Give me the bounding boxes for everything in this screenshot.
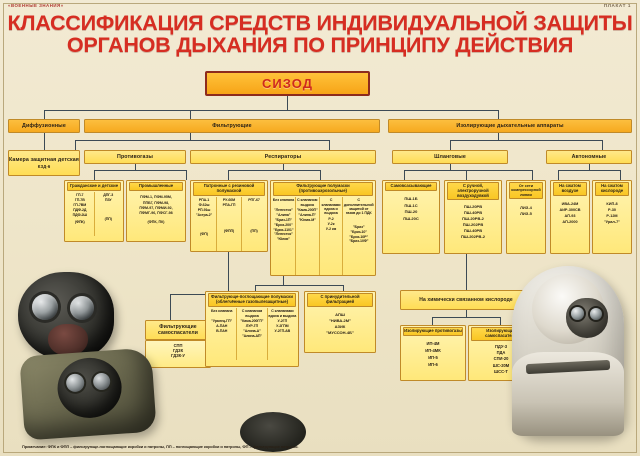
suit-face-mask [566, 298, 608, 338]
node-autonomous: Автономные [546, 150, 632, 164]
connector [75, 140, 76, 150]
halfmask-caption: Фильтрующие полумаски (противоаэрозольны… [273, 182, 373, 196]
model: В-ПАН [208, 329, 236, 334]
halfmask-col-no-valve: Без клапана "Лепесток" "Алина" "Бриз-1П"… [272, 197, 296, 275]
connector [94, 170, 95, 180]
title-line-2: ОРГАНОВ ДЫХАНИЯ ПО ПРИНЦИПУ ДЕЙСТВИЯ [0, 35, 640, 57]
oxygen-caption: На сжатом кислороде [595, 182, 629, 196]
connector [466, 170, 467, 180]
absorbing-col-no-valve: Без клапана "Уралец-ГП" А-ПАН В-ПАН [207, 308, 237, 360]
halfmask-col-both-valves: С клапанами вдоха и выдоха Р-2 У-2к У-2 … [320, 197, 344, 275]
col-head: Без клапана [208, 309, 236, 318]
connector [558, 170, 620, 171]
civil-gasmasks-caption: Гражданские и детские [67, 182, 121, 191]
photo-protective-suit [512, 266, 624, 436]
cartridge-col-fpp: РУ-60М РПА-ГП (ФПП) [217, 197, 242, 251]
col-head: С клапанами вдоха и выдоха [268, 309, 296, 318]
group-civil-gasmasks: Гражданские и детские ГП-7 ГП-7В ГП-7ВМ … [64, 180, 124, 242]
halfmask-col-exhale-valve: С клапаном выдоха "Кама-200П" "Алина-П" … [296, 197, 320, 275]
model: ПШ-202РВ-2 [446, 234, 500, 240]
civil-col-fpk: ГП-7 ГП-7В ГП-7ВМ ПДФ-2Д ПДФ-2Ш (ФПК) [66, 192, 95, 236]
suit-hood [532, 274, 604, 344]
model: ИП-5 [402, 355, 464, 362]
model: "Бриз-10Ф" [344, 239, 374, 244]
model: ИП-4МК [402, 348, 464, 355]
node-gasmasks: Противогазы [84, 150, 186, 164]
col-head: С клапаном выдоха [238, 309, 266, 318]
col-head: С клапаном выдоха [296, 198, 318, 207]
connector [170, 294, 171, 320]
model: ПФМГ-96, ПФСГ-98 [128, 211, 184, 216]
group-compressed-oxygen: На сжатом кислороде КИП-8 Р-30 Р-12М "Ур… [592, 180, 632, 254]
model: "МУССОН-4Б" [306, 330, 374, 336]
connector [75, 140, 329, 141]
node-root-sizod: СИЗОД [205, 71, 370, 96]
connector [432, 317, 500, 318]
model: ПДФ-2Ш [67, 213, 94, 218]
gasmask-filter-snout [48, 324, 88, 356]
model: "Бриз-200" [273, 223, 295, 228]
model: ИП-4М [402, 341, 464, 348]
child-chamber-label: Камера защитная детская [9, 157, 79, 163]
model: "Алина-АП" [238, 334, 266, 339]
photo-gasmask-head [18, 272, 114, 360]
model: "Юлия-М" [296, 218, 318, 223]
node-filtering: Фильтрующие [84, 119, 380, 133]
node-hose: Шланговые [392, 150, 508, 164]
group-forced-filtration: С принудительной фильтрацией АПШ "НИВА-2… [304, 291, 376, 353]
connector [500, 317, 501, 325]
plate-number: ПЛАКАТ 1 [604, 3, 631, 8]
group-compressor-line: От сети компрессорной линии ЛИЗ-4 ЛИЗ-5 [506, 180, 546, 254]
connector [287, 96, 288, 110]
absorbing-col-both-valves: С клапанами вдоха и выдоха У-2ГП У-2ГПМ … [268, 308, 297, 360]
cartridge-col2-foot: (ФПП) [218, 229, 241, 234]
col-head: Без клапана [273, 198, 295, 207]
footnote: Примечание: ФПК и ФПП – фильтрующе-погло… [22, 444, 624, 449]
model: АП-2000 [552, 219, 588, 225]
connector [320, 170, 321, 180]
model: ПЗУ [95, 198, 122, 203]
gasmask-mask-on-bag [56, 356, 124, 420]
model: ИП-6 [402, 362, 464, 369]
cartridge-col-pp: РПГ-67 (ПП) [242, 197, 266, 251]
model: "Урал-7" [594, 219, 630, 225]
connector [602, 140, 603, 150]
node-diffusion: Диффузионные [8, 119, 80, 133]
civil-col1-foot: (ФПК) [67, 220, 94, 225]
model: ПШ-20С [384, 216, 438, 222]
node-respirators: Респираторы [190, 150, 376, 164]
connector [466, 310, 467, 317]
model: "Астра-2" [193, 213, 216, 218]
group-self-suction: Самовсасывающие ПШ-1Б ПШ-1С ПШ-20 ПШ-20С [382, 180, 440, 254]
connector [228, 170, 229, 180]
connector [190, 110, 191, 119]
cartridge-col-fp: РПА-1 Ф-62ш РП-91ш "Астра-2" (ФП) [192, 197, 217, 251]
group-filtering-halfmasks: Фильтрующие полумаски (противоаэрозольны… [270, 180, 376, 276]
connector [44, 110, 498, 111]
connector [450, 140, 602, 141]
connector [190, 133, 191, 140]
air-caption: На сжатом воздухе [553, 182, 587, 196]
compressor-caption: От сети компрессорной линии [509, 182, 543, 199]
connector [558, 170, 559, 180]
connector [283, 276, 284, 285]
model: ГДЗК-У [147, 353, 209, 358]
group-isolating-gasmasks: Изолирующие противогазы ИП-4М ИП-4МК ИП-… [400, 325, 466, 381]
forced-caption: С принудительной фильтрацией [307, 293, 373, 307]
col-head: С дополнительной защитой от газов до 1 П… [344, 198, 374, 216]
self-rescuers-caption: Фильтрующие самоспасатели [146, 324, 210, 336]
node-isolating: Изолирующие дыхательные аппараты [388, 119, 632, 133]
industrial-caption: Промышленные [129, 182, 183, 191]
model: У-2 км [320, 227, 342, 232]
connector [228, 170, 320, 171]
civil-col-pp: ДПГ-3 ПЗУ (ПП) [95, 192, 123, 236]
cartridge-col1-foot: (ФП) [193, 232, 216, 237]
model: ЛИЗ-5 [508, 211, 544, 217]
connector [404, 170, 532, 171]
node-chemical-oxygen: На химически связанном кислороде [400, 290, 532, 310]
cartridge-caption: Патронные с резиновой полумаской [193, 182, 265, 196]
connector [466, 254, 467, 290]
connector [94, 170, 186, 171]
publisher-kicker: «ВОЕННЫЕ ЗНАНИЯ» [8, 3, 64, 8]
col-head: С клапанами вдоха и выдоха [320, 198, 342, 216]
blower-caption: С ручной, электроручной воздуходувкой [447, 182, 499, 200]
model: "Юлия" [273, 237, 295, 242]
connector [44, 133, 45, 150]
model: РПГ-67 [243, 198, 266, 203]
connector [498, 133, 499, 140]
connector [404, 170, 405, 180]
poster-canvas: «ВОЕННЫЕ ЗНАНИЯ» ПЛАКАТ 1 КЛАССИФИКАЦИЯ … [0, 0, 640, 456]
group-blower: С ручной, электроручной воздуходувкой ПШ… [444, 180, 502, 254]
civil-col2-foot: (ПП) [95, 217, 122, 222]
node-filtering-self-rescuers: Фильтрующие самоспасатели [145, 320, 211, 340]
industrial-foot: (ФПК, ПК) [128, 220, 184, 225]
connector [532, 170, 533, 180]
halfmask-col-gas-protection: С дополнительной защитой от газов до 1 П… [343, 197, 374, 275]
connector [450, 140, 451, 150]
model: "Бриз-1П" [273, 218, 295, 223]
absorbing-col-exhale-valve: С клапаном выдоха "Кама-200ГП" ЛУР-ГП "А… [237, 308, 267, 360]
connector [498, 110, 499, 119]
group-compressed-air: На сжатом воздухе ИВА-24М АИР-300СВ АП-9… [550, 180, 590, 254]
model: РПА-ГП [218, 203, 241, 208]
cartridge-col3-foot: (ПП) [243, 229, 266, 234]
connector [329, 140, 330, 150]
group-industrial-gasmasks: Промышленные ПФМ-1, ПФМ-95М, ППБГ, ПФМ-9… [126, 180, 186, 242]
connector [186, 170, 187, 180]
model: У-2ГП-АВ [268, 329, 296, 334]
node-child-chamber: Камера защитная детская КЗД-6 [8, 150, 80, 176]
connector [432, 317, 433, 325]
absorbing-caption: Фильтрующе-поглощающие полумаски (облегч… [208, 293, 296, 307]
isolating-gasmasks-caption: Изолирующие противогазы [403, 327, 463, 336]
page-title: КЛАССИФИКАЦИЯ СРЕДСТВ ИНДИВИДУАЛЬНОЙ ЗАЩ… [0, 13, 640, 57]
connector [228, 252, 229, 294]
connector [255, 285, 343, 286]
self-suction-caption: Самовсасывающие [385, 182, 437, 191]
group-self-rescuer-models: СПП ГДЗК ГДЗК-У [145, 340, 211, 368]
group-cartridge-respirators: Патронные с резиновой полумаской РПА-1 Ф… [190, 180, 268, 252]
group-absorbing-halfmasks: Фильтрующе-поглощающие полумаски (облегч… [205, 291, 299, 367]
child-chamber-model: КЗД-6 [38, 164, 51, 169]
title-line-1: КЛАССИФИКАЦИЯ СРЕДСТВ ИНДИВИДУАЛЬНОЙ ЗАЩ… [0, 13, 640, 35]
photo-gasmask-bag [19, 347, 157, 440]
connector [620, 170, 621, 180]
connector [44, 110, 45, 119]
